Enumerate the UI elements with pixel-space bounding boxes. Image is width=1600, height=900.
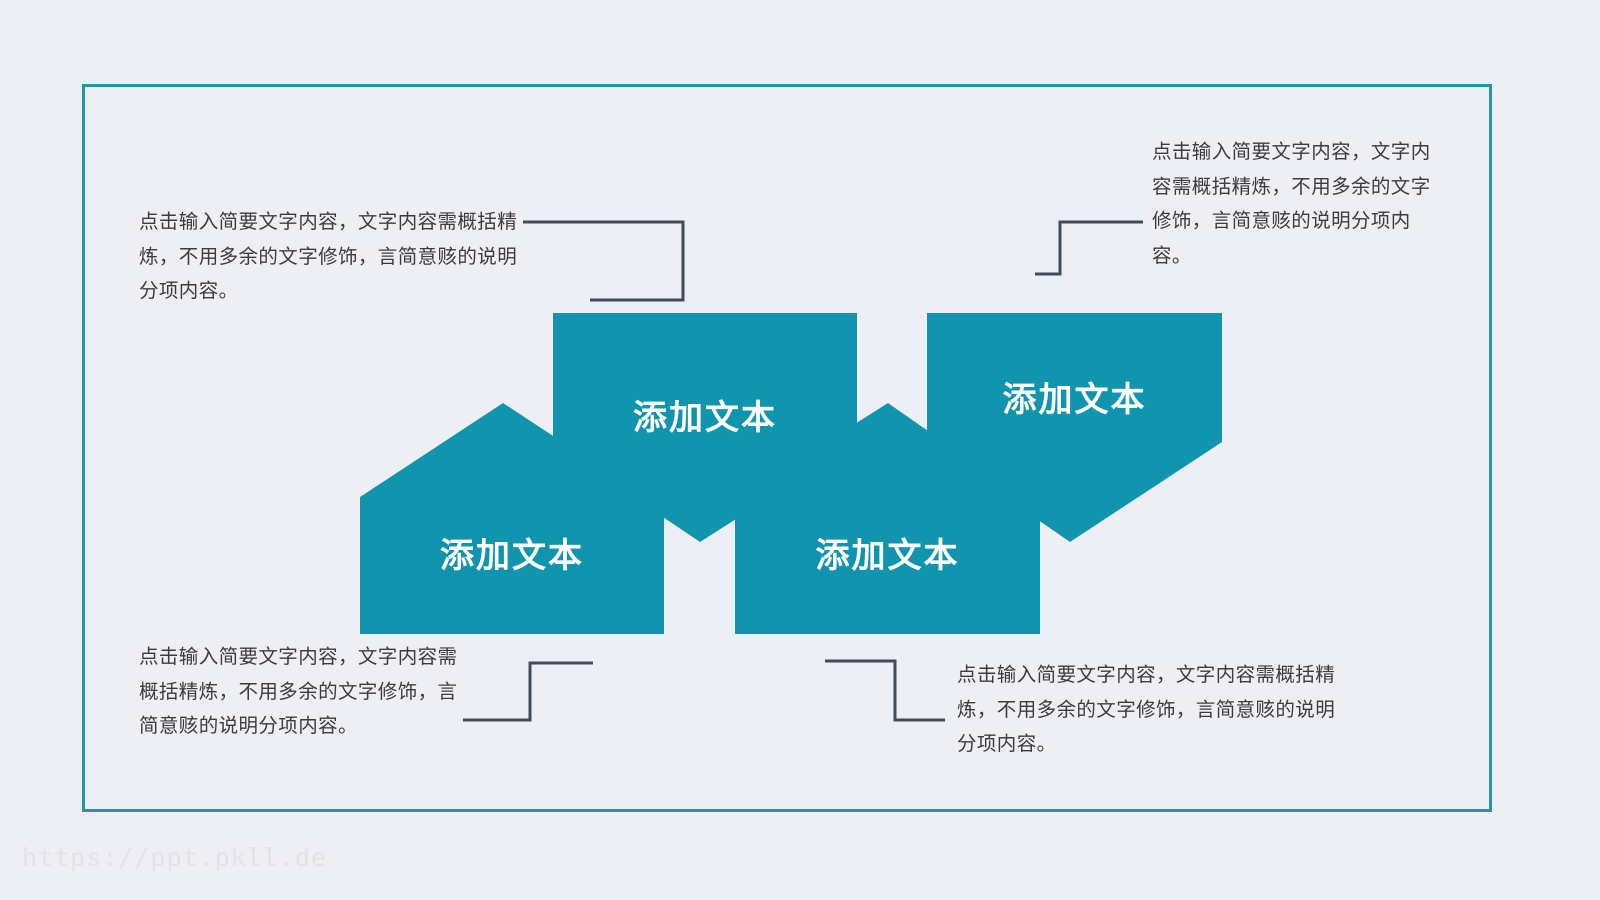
description-top-right: 点击输入简要文字内容，文字内容需概括精炼，不用多余的文字修饰，言简意赅的说明分项… — [1152, 135, 1447, 274]
slide-canvas: 添加文本 添加文本 添加文本 添加文本 点击输入简要文字内容，文字内容需概括精炼… — [0, 0, 1600, 900]
description-top-left: 点击输入简要文字内容，文字内容需概括精炼，不用多余的文字修饰，言简意赅的说明分项… — [139, 205, 519, 309]
description-bottom-left: 点击输入简要文字内容，文字内容需概括精炼，不用多余的文字修饰，言简意赅的说明分项… — [139, 640, 459, 744]
watermark-url: https://ppt.pkll.de — [22, 843, 327, 872]
description-bottom-right: 点击输入简要文字内容，文字内容需概括精炼，不用多余的文字修饰，言简意赅的说明分项… — [957, 658, 1337, 762]
